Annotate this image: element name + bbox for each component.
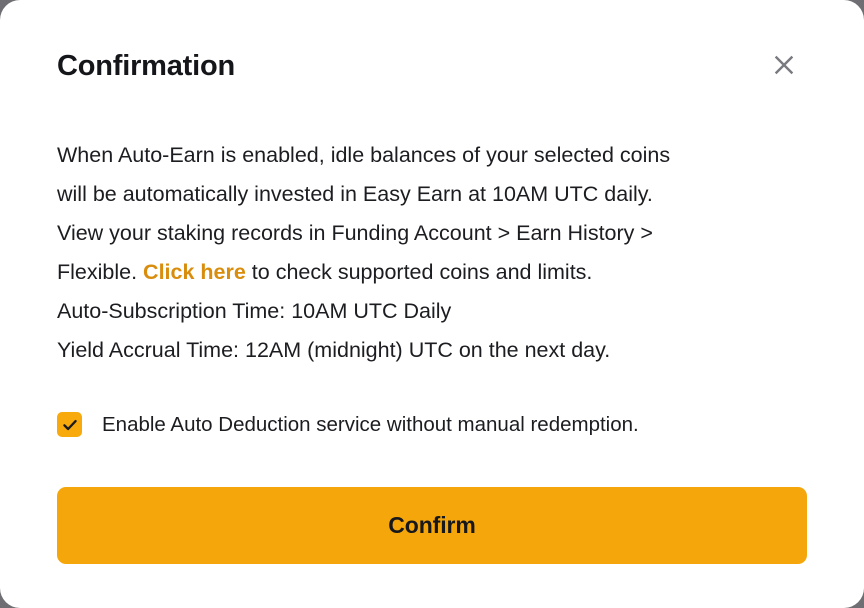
link-line-prefix: Flexible. xyxy=(57,260,143,284)
check-icon xyxy=(61,416,79,434)
body-line-2: will be automatically invested in Easy E… xyxy=(57,175,817,214)
auto-deduction-checkbox-row[interactable]: Enable Auto Deduction service without ma… xyxy=(57,412,639,437)
auto-subscription-time-line: Auto-Subscription Time: 10AM UTC Daily xyxy=(57,292,817,331)
close-button[interactable] xyxy=(768,49,800,81)
auto-deduction-checkbox[interactable] xyxy=(57,412,82,437)
dialog-header: Confirmation xyxy=(0,0,864,110)
body-line-3: View your staking records in Funding Acc… xyxy=(57,214,817,253)
dialog-body: When Auto-Earn is enabled, idle balances… xyxy=(57,136,817,370)
body-line-1: When Auto-Earn is enabled, idle balances… xyxy=(57,136,817,175)
confirm-button[interactable]: Confirm xyxy=(57,487,807,564)
auto-deduction-checkbox-label: Enable Auto Deduction service without ma… xyxy=(102,412,639,437)
click-here-link[interactable]: Click here xyxy=(143,260,246,284)
link-line-suffix: to check supported coins and limits. xyxy=(246,260,593,284)
yield-accrual-time-line: Yield Accrual Time: 12AM (midnight) UTC … xyxy=(57,331,817,370)
body-line-link: Flexible. Click here to check supported … xyxy=(57,253,817,292)
confirmation-dialog: Confirmation When Auto-Earn is enabled, … xyxy=(0,0,864,608)
dialog-title: Confirmation xyxy=(57,46,235,86)
close-icon xyxy=(771,52,797,78)
